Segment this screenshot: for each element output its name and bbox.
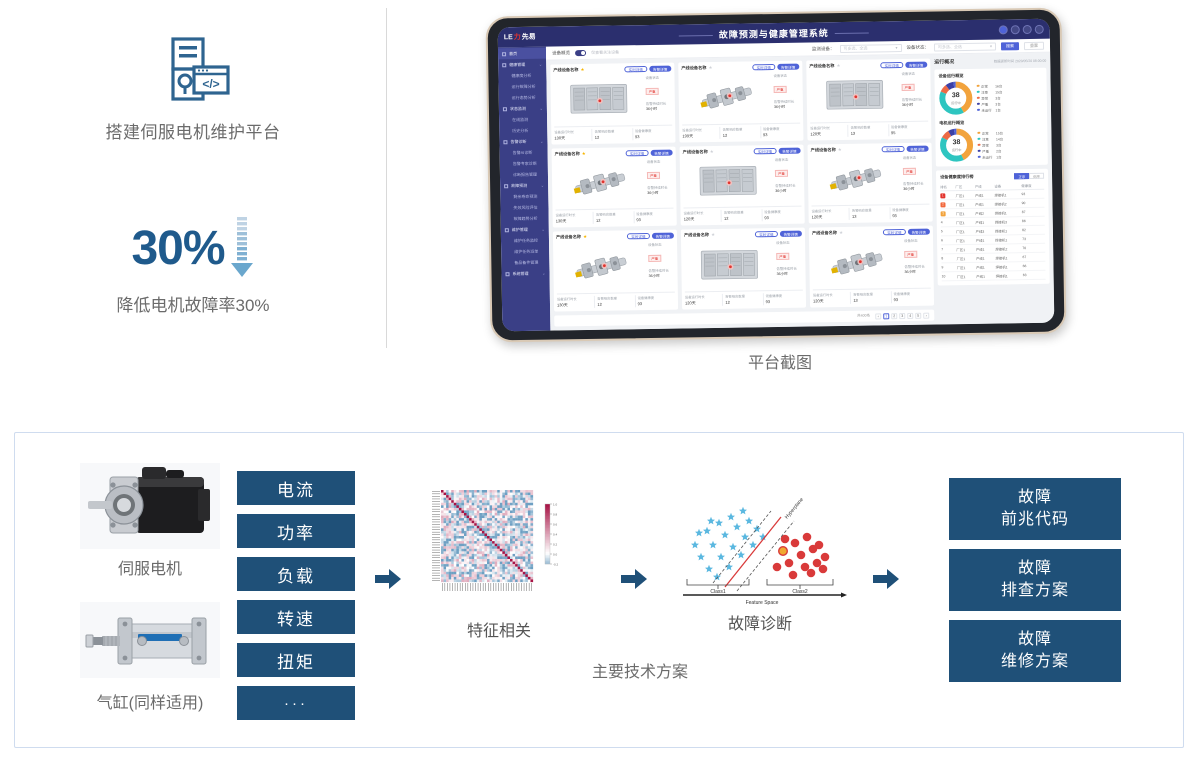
metric-label: 设备健康度 [635,127,672,133]
legend-row: 未运行 1台 [978,153,1044,160]
metric-label: 告警响应数量 [723,126,760,132]
output-box-1: 故障排查方案 [949,549,1121,611]
legend-value: 15台 [996,130,1003,135]
svg-text:0.0: 0.0 [553,552,558,556]
device-cards-grid[interactable]: 产线设备名称 ★ 实时详情 告警详情 [550,59,934,312]
metric-label: 设备健康度 [636,211,673,217]
cell-rank: 2 [940,200,955,209]
device-card-title: 产线设备名称 [553,67,578,73]
status-label: 设备状态 [645,75,671,80]
metric-cell: 设备健康度 93 [763,293,804,306]
status-label: 设备状态 [773,73,799,78]
metric-cell: 告警响应数量 12 [722,293,763,306]
svg-text:0.2: 0.2 [553,542,558,546]
legend-value: 3台 [995,95,1000,100]
status-badge: 严重 [775,169,788,176]
heatmap-caption: 特征相关 [419,617,579,641]
alarm-duration-value: 36小时 [647,190,673,195]
metric-label: 设备健康度 [891,123,928,129]
device-card[interactable]: 产线设备名称 ★ 实时详情 告警详情 [806,59,931,141]
sidebar-item-14[interactable]: 失效风险评估 [500,202,548,214]
rank-badge: 3 [941,211,946,216]
device-card[interactable]: 产线设备名称 ★ 实时详情 告警详情 [808,142,933,224]
realtime-detail-button[interactable]: 实时详情 [753,64,775,70]
content-row: 产线设备名称 ★ 实时详情 告警详情 [546,53,1054,331]
chevron-down-icon: ▾ [990,44,992,49]
alarm-duration-label: 告警持续时长 [904,264,930,269]
favorite-star-icon[interactable]: ★ [839,230,843,236]
realtime-detail-button[interactable]: 实时详情 [755,231,777,237]
metric-value: 95 [891,129,928,135]
cell-rank: 6 [941,236,956,245]
favorite-star-icon[interactable]: ★ [710,149,714,155]
metric-cell: 设备运行时长 120天 [810,125,848,138]
cell-health: 90 [1022,198,1045,207]
device-card-title: 产线设备名称 [555,151,580,157]
top-section: </> 搭建伺服电机维护平台 30% [0,0,1198,400]
sidebar-item-16[interactable]: 维护管理⌄ [501,224,549,236]
user-icon[interactable] [999,25,1008,34]
pagination-page-4[interactable]: 4 [907,312,913,318]
pagination-prev[interactable]: ‹ [875,313,881,319]
device-card-header: 产线设备名称 ★ 实时详情 告警详情 [683,147,801,155]
metric-value: 13 [852,214,889,220]
ranking-tabs[interactable]: 正序倒序 [1014,173,1044,179]
device-card-header: 产线设备名称 ★ 实时详情 告警详情 [553,66,671,74]
ranking-tab-倒序[interactable]: 倒序 [1029,173,1044,179]
device-card-title: 产线设备名称 [809,63,834,69]
alarm-duration-label: 告警持续时长 [774,99,800,104]
cell-device: 焊接机1 [995,253,1022,262]
sidebar-item-9[interactable]: 告警AI诊断 [500,147,548,159]
sidebar-item-7[interactable]: 历史分析 [499,125,547,137]
favorites-toggle[interactable] [575,49,586,55]
cell-health: 73 [1022,234,1045,243]
favorite-star-icon[interactable]: ★ [838,147,842,153]
alarm-duration-label: 告警持续时长 [646,101,672,106]
wrench-icon [505,228,509,232]
ranking-header: 设备健康度排行榜 正序倒序 [940,173,1044,181]
alarm-detail-button[interactable]: 告警详情 [778,147,800,153]
device-status-meta: 设备状态 严重 告警持续时长 36小时 [776,240,803,287]
platform-highlight: </> 搭建伺服电机维护平台 [0,30,386,143]
favorite-star-icon[interactable]: ★ [711,232,715,238]
device-status-meta: 设备状态 严重 告警持续时长 36小时 [903,154,930,201]
metric-value: 130天 [556,218,593,225]
device-card-body: 设备状态 严重 告警持续时长 36小时 [681,73,800,122]
svg-text:Class2: Class2 [792,589,808,595]
source-devices: 伺服电机 [75,461,225,713]
realtime-detail-button[interactable]: 实时详情 [882,146,904,152]
metric-label: 设备健康度 [638,295,675,301]
predict-icon [504,184,508,188]
alarm-duration-value: 36小时 [774,105,800,110]
donut-chart: 38 运行中 [939,128,974,163]
cabinet-photo [684,240,774,288]
cabinet-photo [683,157,773,205]
cell-area: 厂区1 [956,217,976,226]
legend-name: 未运行 [981,107,993,112]
favorite-star-icon[interactable]: ★ [582,151,586,157]
metric-value: 12 [596,218,633,224]
alarm-detail-button[interactable]: 告警详情 [650,149,672,155]
donut-center-label: 38 运行中 [939,128,974,163]
alarm-detail-button[interactable]: 告警详情 [907,229,929,235]
alarm-duration-value: 36小时 [646,107,672,112]
search-button[interactable]: 搜索 [1001,42,1019,50]
metric-value: 93 [766,299,803,305]
device-status-meta: 设备状态 严重 告警持续时长 36小时 [904,238,931,285]
device-card[interactable]: 产线设备名称 ★ 实时详情 告警详情 [678,61,803,143]
device-card-actions[interactable]: 实时详情 告警详情 [627,233,674,240]
legend-value: 1台 [996,154,1001,159]
metric-value: 12 [723,132,760,138]
status-label: 设备状态 [648,242,674,247]
legend-value: 1台 [995,107,1000,112]
device-filter-select[interactable]: 可多选、全选 ▾ [839,44,901,53]
sidebar-item-13[interactable]: 剩余寿命预测 [500,191,548,203]
device-card-metrics: 设备运行时长 130天 告警响应数量 12 设备健康度 93 [556,208,674,225]
pneumatic-cylinder-photo [75,595,225,685]
legend-value: 2台 [996,148,1001,153]
metric-value: 13 [853,297,890,303]
sidebar-item-label: 告警诊断 [510,138,526,144]
device-card-title: 产线设备名称 [684,232,709,238]
sidebar-item-2[interactable]: 健康度分析 [498,70,546,82]
conveyor-photo [681,73,771,121]
metric-cell: 设备健康度 95 [888,123,929,136]
legend-dot-icon [978,150,981,153]
favorite-star-icon[interactable]: ★ [708,65,712,71]
servo-motor-label: 伺服电机 [75,555,225,579]
home-icon[interactable] [1011,25,1020,34]
chevron-down-icon: ⌄ [539,62,542,67]
output-line1: 故障 [1018,629,1052,651]
conveyor-photo [811,155,901,203]
pagination-page-5[interactable]: 5 [915,312,921,318]
status-badge: 严重 [904,251,917,258]
chevron-down-icon: ⌄ [541,183,544,188]
rank-badge: 1 [940,193,945,198]
conveyor-photo [556,242,646,290]
toggle-sublabel: 仅查看关注设备 [591,49,619,55]
donut-caption: 运行中 [952,147,962,152]
device-card-actions[interactable]: 实时详情 告警详情 [625,66,672,73]
cell-health: 82 [1022,225,1045,234]
legend-name: 正常 [982,130,994,135]
column-header: 排名 [940,182,955,191]
cell-area: 厂区1 [957,262,977,271]
device-card-title: 产线设备名称 [812,230,837,236]
svg-text:0.8: 0.8 [553,512,558,516]
alarm-detail-button[interactable]: 告警详情 [652,233,674,239]
conveyor-photo [812,238,902,286]
cell-device: 焊接机3 [995,217,1022,226]
metric-value: 12 [597,301,634,307]
cell-rank: 9 [941,263,956,272]
vertical-divider [386,8,387,348]
device-card-actions[interactable]: 实时详情 告警详情 [882,145,929,152]
metric-value: 93 [635,133,672,139]
sidebar-item-19[interactable]: 备品备件管理 [501,257,549,269]
device-card-metrics: 设备运行时长 130天 告警响应数量 12 设备健康度 93 [554,124,672,141]
metric-cell: 设备健康度 93 [760,125,801,138]
tablet-frame: LE力先易 故障预测与健康管理系统 首页健康管理⌄健康度分析运行故障分析运行态势… [485,7,1066,342]
legend-dot-icon [977,85,980,88]
status-label: 设备状态 [901,71,927,76]
donut-legend: 正常 15台 注意 14台 异常 3台 严重 2台 [977,129,1043,160]
alarm-duration-label: 告警持续时长 [902,97,928,102]
device-card-header: 产线设备名称 ★ 实时详情 告警详情 [812,229,930,237]
device-card-body: 设备状态 严重 告警持续时长 36小时 [683,156,802,205]
cell-area: 厂区1 [956,244,976,253]
ranking-tab-正序[interactable]: 正序 [1014,173,1029,179]
scheme-caption: 主要技术方案 [510,658,770,682]
sidebar-item-10[interactable]: 告警专家诊断 [500,158,548,170]
sidebar-item-4[interactable]: 运行态势分析 [499,92,547,104]
metric-cell: 告警响应数量 13 [849,208,890,221]
svg-text:Feature Space: Feature Space [746,600,779,606]
metric-value: 120天 [813,298,850,305]
donut-value: 38 [952,92,960,99]
realtime-detail-button[interactable]: 实时详情 [880,62,902,68]
alarm-detail-button[interactable]: 告警详情 [649,66,671,72]
cell-device: 焊接机2 [995,244,1022,253]
status-label: 设备状态 [776,240,802,245]
device-card-header: 产线设备名称 ★ 实时详情 告警详情 [681,64,799,72]
device-card-body: 设备状态 严重 告警持续时长 36小时 [812,238,931,287]
status-label: 设备状态 [775,156,801,161]
sidebar-item-18[interactable]: 维护任务派单 [501,246,549,258]
metric-cell: 告警响应数量 12 [721,210,762,223]
alarm-duration-label: 告警持续时长 [648,268,674,273]
health-ranking-box[interactable]: 设备健康度排行榜 正序倒序 排名厂区产线设备健康度 1 厂区1 产线1 焊接机1… [936,169,1050,286]
metric-cell: 设备运行时长 199天 [682,127,720,140]
cell-rank: 7 [941,245,956,254]
bell-icon[interactable] [1023,24,1032,33]
tablet-caption: 平台截图 [470,349,1090,373]
device-card-actions[interactable]: 实时详情 告警详情 [755,231,802,238]
column-header: 产线 [975,182,995,191]
device-card-header: 产线设备名称 ★ 实时详情 告警详情 [556,233,674,241]
device-card[interactable]: 产线设备名称 ★ 实时详情 告警详情 [553,230,678,312]
servo-motor-photo [75,461,225,551]
cell-health: 70 [1022,243,1045,252]
device-card[interactable]: 产线设备名称 ★ 实时详情 告警详情 [552,146,677,228]
favorite-star-icon[interactable]: ★ [580,67,584,73]
device-status-meta: 设备状态 严重 告警持续时长 36小时 [901,71,928,118]
sidebar-item-0[interactable]: 首页 [498,48,546,60]
favorite-star-icon[interactable]: ★ [583,234,587,240]
device-card-body: 设备状态 严重 告警持续时长 36小时 [684,240,803,289]
svg-text:0.4: 0.4 [553,532,558,536]
sidebar-item-20[interactable]: 系统管理⌄ [501,268,549,280]
legend-dot-icon [977,91,980,94]
device-card-metrics: 设备运行时长 120天 告警响应数量 13 设备健康度 93 [813,288,931,305]
device-card[interactable]: 产线设备名称 ★ 实时详情 告警详情 [550,63,675,145]
table-row[interactable]: 10 厂区1 产线1 焊接机1 63 [942,270,1046,281]
cell-rank: 3 [941,209,956,218]
output-line1: 故障 [1018,487,1052,509]
metric-cell: 设备健康度 93 [632,127,673,140]
sidebar-item-11[interactable]: 诊断报告管理 [500,169,548,181]
device-card[interactable]: 产线设备名称 ★ 实时详情 告警详情 [680,144,805,226]
cell-health: 66 [1023,261,1046,270]
status-filter-select[interactable]: 可多选、全选 ▾ [934,42,996,51]
cell-device: 焊接机1 [995,208,1022,217]
cabinet-photo [553,75,643,123]
cell-rank: 1 [940,191,955,200]
device-status-meta: 设备状态 严重 告警持续时长 36小时 [647,158,674,205]
pagination[interactable]: 共400条‹12345› [554,310,934,327]
alarm-detail-button[interactable]: 告警详情 [777,64,799,70]
alarm-detail-button[interactable]: 告警详情 [905,62,927,68]
conveyor-photo [555,159,645,207]
cell-device: 焊接机2 [995,199,1022,208]
metric-value: 12 [595,134,632,140]
chevron-down-icon: ⌄ [540,139,543,144]
alarm-duration-value: 36小时 [905,270,931,275]
realtime-detail-button[interactable]: 实时详情 [627,233,649,239]
metric-cell: 设备健康度 93 [889,207,930,220]
metric-cell: 设备健康度 93 [633,211,674,224]
cell-device: 焊接机1 [995,226,1022,235]
device-card-title: 产线设备名称 [556,234,581,240]
sidebar-item-label: 健康管理 [509,61,525,67]
metric-value: 93 [763,131,800,137]
metric-cell: 设备运行时长 120天 [685,294,723,307]
sidebar-item-1[interactable]: 健康管理⌄ [498,59,546,71]
monitor-icon [503,107,507,111]
output-line1: 故障 [1018,558,1052,580]
device-card[interactable]: 产线设备名称 ★ 实时详情 告警详情 [681,228,806,310]
device-card-actions[interactable]: 实时详情 告警详情 [880,62,927,69]
realtime-detail-button[interactable]: 实时详情 [754,148,776,154]
signal-tag-2: 负载 [237,557,355,591]
sidebar-item-3[interactable]: 运行故障分析 [498,81,546,93]
chevron-down-icon: ▾ [895,45,897,50]
overview-panel: 运行概况 数据更新时间 2020/05/20 08:00:00 设备运行概览 3… [934,53,1054,325]
donut-legend: 正常 16台 注意 15台 异常 3台 严重 3台 [977,82,1043,113]
device-card-body: 设备状态 严重 告警持续时长 36小时 [809,71,928,120]
pagination-page-3[interactable]: 3 [899,312,905,318]
pagination-next[interactable]: › [923,312,929,318]
realtime-detail-button[interactable]: 实时详情 [626,150,648,156]
cell-line: 产线1 [975,217,995,226]
metric-label: 设备运行时长 [557,296,594,302]
metric-value: 120天 [810,131,847,138]
arrow-right-icon [621,568,647,590]
legend-value: 14台 [996,136,1003,141]
svg-text:-0.2: -0.2 [553,562,559,566]
alarm-duration-label: 告警持续时长 [775,182,801,187]
sidebar-item-15[interactable]: 故障趋势分析 [501,213,549,225]
metric-cell: 设备运行时长 130天 [554,129,592,142]
column-header: 健康度 [1021,181,1044,190]
header-icon-group[interactable] [999,24,1044,34]
metric-label: 设备运行时长 [556,212,593,218]
metric-value: 199天 [682,133,719,140]
legend-name: 严重 [981,101,993,106]
device-card[interactable]: 产线设备名称 ★ 实时详情 告警详情 [809,226,934,308]
metric-value: 93 [764,215,801,221]
sidebar-item-label: 告警专家诊断 [513,160,537,166]
donut-chart: 38 运行中 [939,81,974,116]
metric-value: 120天 [812,214,849,221]
realtime-detail-button[interactable]: 实时详情 [883,229,905,235]
device-status-meta: 设备状态 严重 告警持续时长 36小时 [648,242,675,289]
sidebar-item-8[interactable]: 告警诊断⌄ [499,136,547,148]
metric-value: 130天 [554,135,591,142]
legend-name: 异常 [982,142,994,147]
metric-label: 设备运行时长 [554,129,591,135]
sidebar-item-12[interactable]: 故障预测⌄ [500,180,548,192]
device-card-actions[interactable]: 实时详情 告警详情 [753,64,800,71]
signal-tag-list: 电流功率负载转速扭矩··· [237,471,355,729]
sidebar-item-5[interactable]: 状态监测⌄ [499,103,547,115]
device-card-metrics: 设备运行时长 130天 告警响应数量 12 设备健康度 93 [557,292,675,309]
metric-label: 设备健康度 [893,291,930,297]
metric-label: 设备健康度 [766,293,803,299]
pagination-page-1[interactable]: 1 [883,313,889,319]
alarm-detail-button[interactable]: 告警详情 [780,231,802,237]
alarm-duration-value: 36小时 [649,274,675,279]
status-badge: 严重 [648,255,661,262]
device-status-meta: 设备状态 严重 告警持续时长 36小时 [773,73,800,120]
sidebar-item-17[interactable]: 维护任务监控 [501,235,549,247]
home-icon [502,52,506,56]
device-card-actions[interactable]: 实时详情 告警详情 [883,229,930,236]
sidebar-item-label: 诊断报告管理 [513,171,537,177]
pagination-page-2[interactable]: 2 [891,313,897,319]
cell-rank: 5 [941,227,956,236]
status-badge: 严重 [902,84,915,91]
gear-icon[interactable] [1035,24,1044,33]
metric-value: 130天 [557,302,594,309]
signal-tag-4: 扭矩 [237,643,355,677]
pagination-total: 共400条 [857,314,870,319]
cell-line: 产线3 [975,226,995,235]
metric-label: 设备运行时长 [813,292,850,298]
metric-value: 120天 [684,216,721,223]
metric-cell: 设备健康度 93 [890,291,931,304]
alarm-duration-value: 36小时 [775,188,801,193]
cell-line: 产线1 [975,190,995,199]
cylinder-label: 气缸(同样适用) [75,689,225,713]
reset-button[interactable]: 重置 [1024,41,1044,49]
legend-dot-icon [978,144,981,147]
feature-correlation-stage: 1.00.80.60.40.20.0-0.2 特征相关 [419,478,579,641]
metric-value: 30% [131,225,224,273]
status-badge: 严重 [776,253,789,260]
sidebar-item-label: 健康度分析 [511,72,531,78]
sidebar-item-6[interactable]: 在线监测 [499,114,547,126]
device-card-actions[interactable]: 实时详情 告警详情 [626,149,673,156]
favorite-star-icon[interactable]: ★ [836,63,840,69]
overview-panel-header: 运行概况 数据更新时间 2020/05/20 08:00:00 [934,57,1046,66]
metric-cell: 告警响应数量 12 [593,212,634,225]
metric-value: 93 [894,297,931,303]
legend-dot-icon [977,132,980,135]
alarm-detail-button[interactable]: 告警详情 [906,145,928,151]
sidebar-nav[interactable]: 首页健康管理⌄健康度分析运行故障分析运行态势分析状态监测⌄在线监测历史分析告警诊… [498,47,550,332]
signal-tag-0: 电流 [237,471,355,505]
output-line2: 维修方案 [1001,651,1069,673]
tablet-screen: LE力先易 故障预测与健康管理系统 首页健康管理⌄健康度分析运行故障分析运行态势… [498,19,1055,332]
status-label: 设备状态 [903,154,929,159]
realtime-detail-button[interactable]: 实时详情 [625,66,647,72]
device-card-actions[interactable]: 实时详情 告警详情 [754,147,801,154]
